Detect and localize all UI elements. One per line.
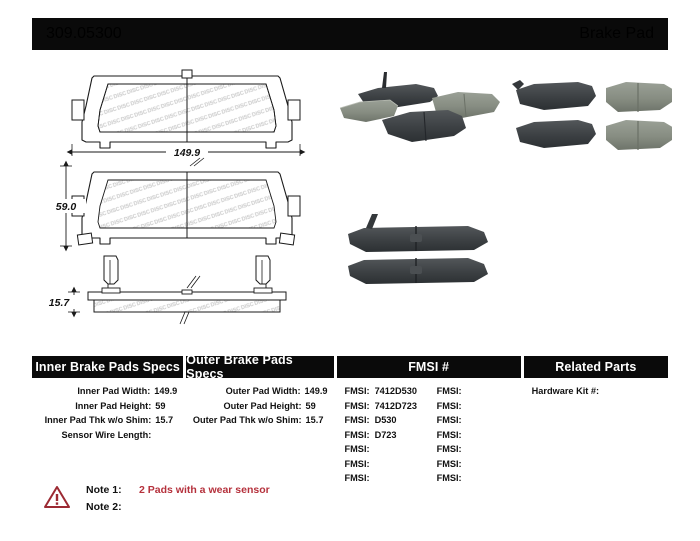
related-part-row: Hardware Kit #: (532, 384, 668, 399)
spec-label: Inner Pad Width: (77, 384, 150, 399)
fmsi-value: 7412D530 (370, 384, 417, 399)
fmsi-value: 7412D723 (370, 399, 417, 414)
fmsi-row: FMSI: (437, 457, 521, 472)
fmsi-label: FMSI: (345, 471, 370, 486)
table-body-row: Inner Pad Width: 149.9 Inner Pad Height:… (32, 384, 668, 486)
fmsi-label: FMSI: (437, 471, 462, 486)
fmsi-row: FMSI: D530 (345, 413, 429, 428)
related-part-label: Hardware Kit #: (532, 386, 599, 396)
spec-row: Outer Pad Thk w/o Shim: 15.7 (186, 413, 333, 428)
spec-label: Inner Pad Thk w/o Shim: (45, 413, 152, 428)
spec-row: Sensor Wire Length: (32, 428, 183, 443)
fmsi-row: FMSI: 7412D530 (345, 384, 429, 399)
fmsi-label: FMSI: (437, 442, 462, 457)
fmsi-label: FMSI: (345, 457, 370, 472)
related-parts-cell: Hardware Kit #: (524, 384, 668, 486)
fmsi-value (462, 384, 467, 399)
spec-value: 149.9 (150, 384, 177, 399)
spec-value: 59 (151, 399, 177, 414)
fmsi-cell: FMSI: 7412D530 FMSI: 7412D723 FMSI: D530… (337, 384, 521, 486)
fmsi-label: FMSI: (345, 428, 370, 443)
fmsi-label: FMSI: (437, 384, 462, 399)
column-header-inner-specs: Inner Brake Pads Specs (32, 356, 183, 378)
note-text: 2 Pads with a wear sensor (132, 482, 270, 499)
pad-drawing-side-view (88, 256, 286, 324)
note-label: Note 1: (86, 482, 132, 499)
spec-value (151, 428, 177, 443)
notes-section: Note 1: 2 Pads with a wear sensor Note 2… (44, 482, 270, 516)
fmsi-row: FMSI: (345, 471, 429, 486)
spec-value: 59 (302, 399, 328, 414)
fmsi-value (370, 457, 375, 472)
fmsi-label: FMSI: (345, 384, 370, 399)
note-text (132, 499, 139, 516)
technical-drawings-panel: DISC 149.9 (30, 66, 342, 326)
fmsi-value (462, 413, 467, 428)
spec-label: Outer Pad Width: (226, 384, 301, 399)
inner-specs-cell: Inner Pad Width: 149.9 Inner Pad Height:… (32, 384, 183, 486)
dimension-height-label: 59.0 (56, 201, 77, 213)
brake-pad-cad-drawings: DISC 149.9 (30, 66, 342, 326)
notes-list: Note 1: 2 Pads with a wear sensor Note 2… (86, 482, 270, 516)
fmsi-label: FMSI: (345, 399, 370, 414)
spec-value: 15.7 (151, 413, 177, 428)
photo-group-flat (512, 80, 672, 150)
spec-label: Sensor Wire Length: (62, 428, 152, 443)
dimension-thickness-label: 15.7 (49, 297, 71, 309)
fmsi-row: FMSI: (437, 413, 521, 428)
column-header-fmsi: FMSI # (337, 356, 521, 378)
fmsi-label: FMSI: (345, 442, 370, 457)
fmsi-label: FMSI: (437, 399, 462, 414)
fmsi-value: D530 (370, 413, 397, 428)
outer-specs-cell: Outer Pad Width: 149.9 Outer Pad Height:… (186, 384, 333, 486)
brake-pad-photographs (338, 66, 672, 326)
fmsi-row: FMSI: (437, 428, 521, 443)
spec-value: 149.9 (301, 384, 328, 399)
note-label: Note 2: (86, 499, 132, 516)
fmsi-value (462, 442, 467, 457)
specifications-table: Inner Brake Pads Specs Outer Brake Pads … (32, 356, 668, 486)
fmsi-row: FMSI: (345, 457, 429, 472)
part-number: 309.05300 (46, 25, 122, 43)
photo-group-edge-view (348, 214, 488, 284)
fmsi-value (462, 428, 467, 443)
fmsi-value (370, 471, 375, 486)
note-row: Note 2: (86, 499, 270, 516)
fmsi-value (462, 457, 467, 472)
note-row: Note 1: 2 Pads with a wear sensor (86, 482, 270, 499)
fmsi-column-right: FMSI: FMSI: FMSI: FMSI: FMSI: (429, 384, 521, 486)
spec-label: Inner Pad Height: (75, 399, 151, 414)
fmsi-column-left: FMSI: 7412D530 FMSI: 7412D723 FMSI: D530… (337, 384, 429, 486)
table-header-row: Inner Brake Pads Specs Outer Brake Pads … (32, 356, 668, 378)
fmsi-row: FMSI: 7412D723 (345, 399, 429, 414)
fmsi-label: FMSI: (437, 428, 462, 443)
fmsi-label: FMSI: (345, 413, 370, 428)
fmsi-row: FMSI: (437, 399, 521, 414)
fmsi-row: FMSI: (437, 442, 521, 457)
spec-row: Inner Pad Width: 149.9 (32, 384, 183, 399)
dimension-thickness: 15.7 (42, 292, 80, 312)
warning-triangle-icon (44, 485, 70, 509)
spec-label: Outer Pad Thk w/o Shim: (193, 413, 302, 428)
page-title: Brake Pad (579, 25, 654, 43)
fmsi-label: FMSI: (437, 413, 462, 428)
photo-group-angled (340, 72, 500, 142)
dimension-width-label: 149.9 (174, 147, 200, 159)
fmsi-label: FMSI: (437, 457, 462, 472)
spec-row: Outer Pad Height: 59 (186, 399, 333, 414)
fmsi-row: FMSI: (345, 442, 429, 457)
product-photos-panel (338, 66, 672, 326)
column-header-related-parts: Related Parts (524, 356, 668, 378)
fmsi-value (462, 471, 467, 486)
dimension-height: 59.0 (46, 166, 86, 246)
spec-row: Inner Pad Height: 59 (32, 399, 183, 414)
fmsi-row: FMSI: (437, 471, 521, 486)
spec-row: Inner Pad Thk w/o Shim: 15.7 (32, 413, 183, 428)
spec-label: Outer Pad Height: (223, 399, 301, 414)
fmsi-value (370, 442, 375, 457)
pad-drawing-front-view (72, 158, 300, 245)
spec-value: 15.7 (302, 413, 328, 428)
fmsi-value: D723 (370, 428, 397, 443)
fmsi-value (462, 399, 467, 414)
pad-drawing-rear-view (72, 70, 300, 148)
spec-row: Outer Pad Width: 149.9 (186, 384, 333, 399)
column-header-outer-specs: Outer Brake Pads Specs (186, 356, 333, 378)
header-bar: 309.05300 Brake Pad (32, 18, 668, 50)
fmsi-row: FMSI: D723 (345, 428, 429, 443)
fmsi-row: FMSI: (437, 384, 521, 399)
